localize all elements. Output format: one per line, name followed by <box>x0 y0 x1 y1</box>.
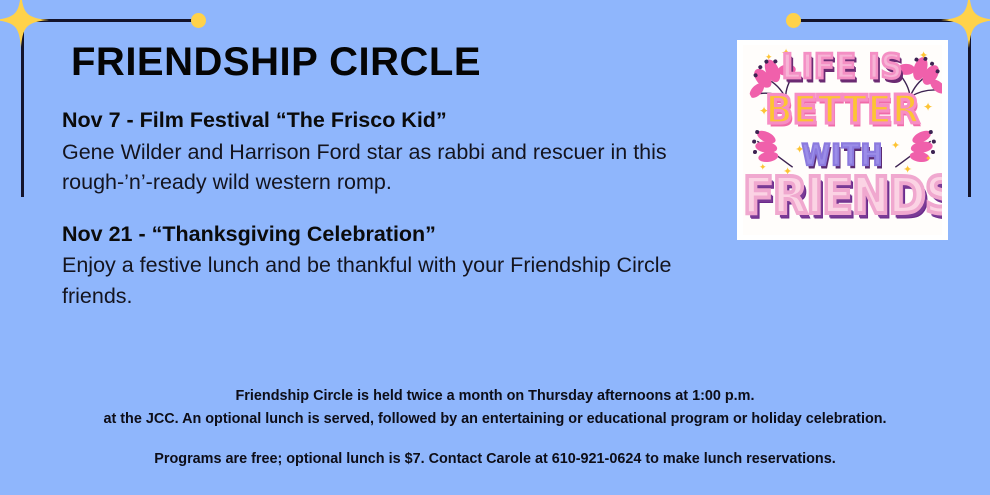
event-description: Gene Wilder and Harrison Ford star as ra… <box>62 137 732 198</box>
list-item: Nov 21 - “Thanksgiving Celebration” Enjo… <box>62 220 732 312</box>
footer-line-1: Friendship Circle is held twice a month … <box>0 385 990 408</box>
slide-canvas: FRIENDSHIP CIRCLE Nov 7 - Film Festival … <box>0 0 990 495</box>
frame-line-top-left-vertical <box>21 19 24 197</box>
event-title: Nov 21 - “Thanksgiving Celebration” <box>62 220 732 250</box>
graphic-word-better: BETTER <box>743 91 942 131</box>
friendship-graphic-card: ✦ ✦ ✦ ✦ ✦ ✦ ✦ ✦ ✦ ✦ ✦ ✦ LIFE IS BETTER W… <box>737 40 948 240</box>
frame-line-top-right-horizontal <box>793 19 969 22</box>
event-list: Nov 7 - Film Festival “The Frisco Kid” G… <box>62 106 732 333</box>
list-item: Nov 7 - Film Festival “The Frisco Kid” G… <box>62 106 732 198</box>
graphic-word-friends: FRIENDS <box>743 170 942 220</box>
page-title: FRIENDSHIP CIRCLE <box>71 40 481 85</box>
footer-line-2: at the JCC. An optional lunch is served,… <box>0 408 990 431</box>
footer-spacer <box>0 432 990 448</box>
accent-dot-left <box>191 13 206 28</box>
accent-dot-right <box>786 13 801 28</box>
event-description: Enjoy a festive lunch and be thankful wi… <box>62 250 732 311</box>
footer-line-3: Programs are free; optional lunch is $7.… <box>0 448 990 471</box>
friendship-graphic-inner: ✦ ✦ ✦ ✦ ✦ ✦ ✦ ✦ ✦ ✦ ✦ ✦ LIFE IS BETTER W… <box>743 45 942 235</box>
footer-block: Friendship Circle is held twice a month … <box>0 385 990 471</box>
frame-line-top-right-vertical <box>968 19 971 197</box>
frame-line-top-left-horizontal <box>22 19 198 22</box>
graphic-word-life-is: LIFE IS <box>743 51 942 85</box>
sparkle-star-icon-top-left <box>0 0 51 50</box>
event-title: Nov 7 - Film Festival “The Frisco Kid” <box>62 106 732 136</box>
